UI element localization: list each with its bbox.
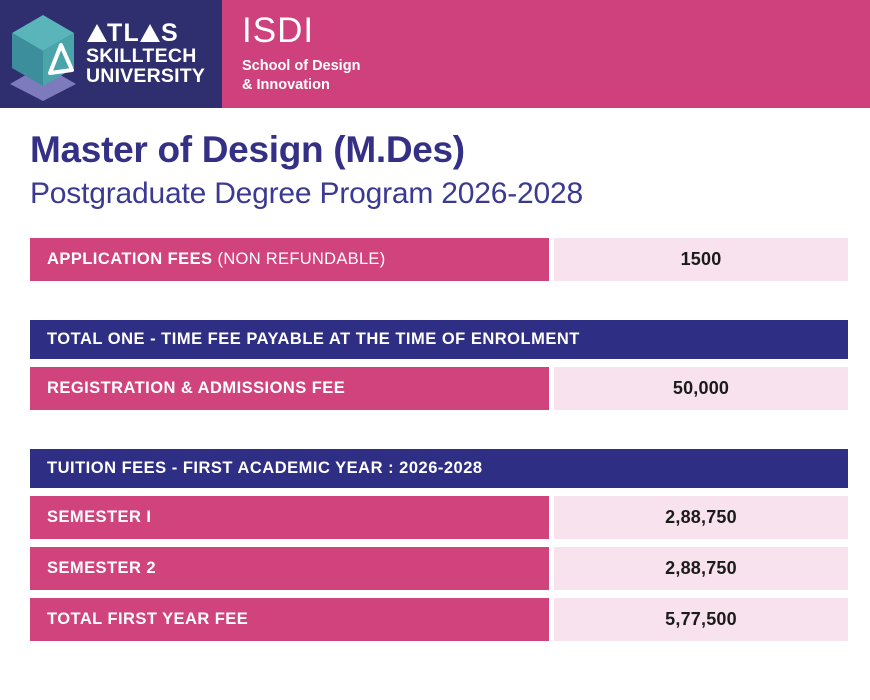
application-fees-value: 1500: [554, 238, 848, 281]
atlas-name-line1: TLS: [86, 21, 205, 47]
semester-2-value: 2,88,750: [554, 547, 848, 590]
fee-table: APPLICATION FEES (NON REFUNDABLE) 1500 T…: [0, 212, 870, 641]
isdi-logo: ISDI School of Design & Innovation: [242, 13, 360, 94]
spacer: [30, 418, 848, 449]
spacer: [30, 212, 848, 238]
semester-1-label: SEMESTER I: [30, 496, 549, 539]
spacer: [30, 289, 848, 320]
table-row: TOTAL FIRST YEAR FEE 5,77,500: [30, 598, 848, 641]
atlas-name-line2: SKILLTECH: [86, 47, 205, 67]
isdi-tagline-line2: & Innovation: [242, 76, 360, 95]
section-heading-one-time-fee: TOTAL ONE - TIME FEE PAYABLE AT THE TIME…: [30, 320, 848, 359]
total-first-year-fee-label: TOTAL FIRST YEAR FEE: [30, 598, 549, 641]
table-row: SEMESTER I 2,88,750: [30, 496, 848, 539]
triangle-a-icon: [87, 24, 107, 42]
fee-structure-page: TLS SKILLTECH UNIVERSITY ISDI School of …: [0, 0, 870, 700]
table-row: SEMESTER 2 2,88,750: [30, 547, 848, 590]
registration-admissions-fee-label: REGISTRATION & ADMISSIONS FEE: [30, 367, 549, 410]
school-brand-block: ISDI School of Design & Innovation: [222, 0, 870, 108]
application-fees-label: APPLICATION FEES (NON REFUNDABLE): [30, 238, 549, 281]
registration-admissions-fee-value: 50,000: [554, 367, 848, 410]
brand-header: TLS SKILLTECH UNIVERSITY ISDI School of …: [0, 0, 870, 108]
table-row: APPLICATION FEES (NON REFUNDABLE) 1500: [30, 238, 848, 281]
isdi-wordmark: ISDI: [242, 13, 360, 48]
application-fees-label-bold: APPLICATION FEES: [47, 250, 213, 269]
page-title: Master of Design (M.Des): [30, 130, 870, 169]
application-fees-label-note: (NON REFUNDABLE): [218, 250, 386, 269]
semester-1-value: 2,88,750: [554, 496, 848, 539]
table-row: REGISTRATION & ADMISSIONS FEE 50,000: [30, 367, 848, 410]
semester-2-label: SEMESTER 2: [30, 547, 549, 590]
atlas-wordmark: TLS SKILLTECH UNIVERSITY: [86, 21, 205, 86]
university-brand-block: TLS SKILLTECH UNIVERSITY: [0, 0, 222, 108]
atlas-cube-logo: [6, 7, 80, 101]
total-first-year-fee-value: 5,77,500: [554, 598, 848, 641]
isdi-tagline-line1: School of Design: [242, 57, 360, 76]
title-block: Master of Design (M.Des) Postgraduate De…: [0, 108, 870, 212]
atlas-name-line3: UNIVERSITY: [86, 67, 205, 87]
page-subtitle: Postgraduate Degree Program 2026-2028: [30, 177, 870, 212]
section-heading-tuition-fees: TUITION FEES - FIRST ACADEMIC YEAR : 202…: [30, 449, 848, 488]
triangle-a-icon: [140, 24, 160, 42]
